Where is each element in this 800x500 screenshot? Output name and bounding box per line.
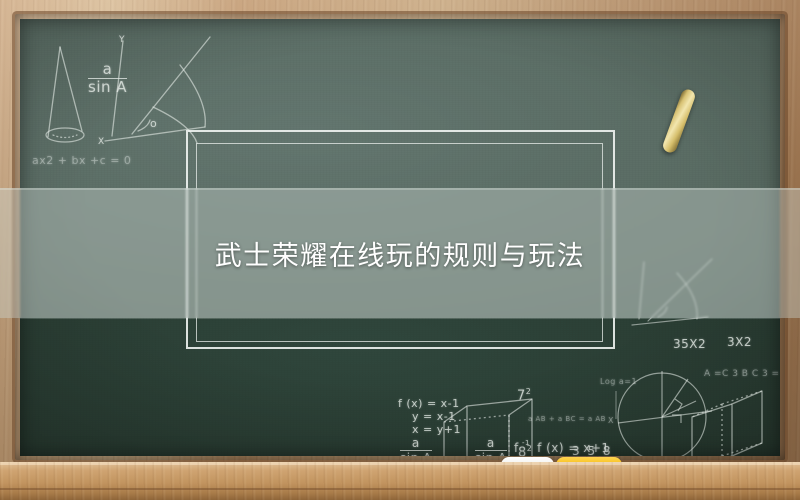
ledge-edge-line bbox=[0, 488, 800, 490]
ledge-wood-grain bbox=[0, 462, 800, 500]
page-title: 武士荣耀在线玩的规则与玩法 bbox=[0, 188, 800, 318]
banner-image: a sin A Y X o ax2 + bx +c = 0 35X2 3X2 f… bbox=[0, 0, 800, 500]
chalk-ledge bbox=[0, 462, 800, 500]
